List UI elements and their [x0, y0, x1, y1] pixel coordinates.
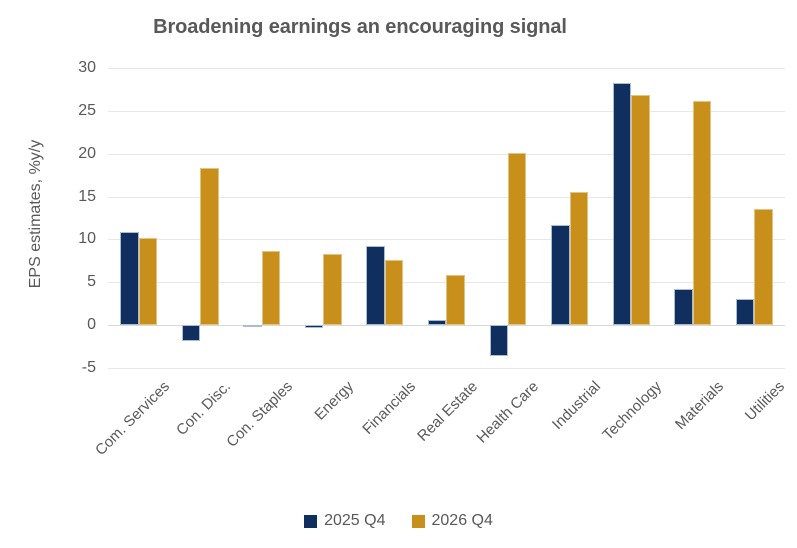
gridline--5 — [108, 368, 785, 369]
x-axis-label-text: Technology — [599, 378, 665, 444]
bar-group — [182, 68, 219, 368]
y-axis-title: EPS estimates, %y/y — [27, 99, 45, 329]
bar-group — [243, 68, 280, 368]
x-axis-label-text: Materials — [672, 378, 727, 433]
x-axis-label-financials: Financials — [359, 378, 419, 438]
x-axis-label-technology: Technology — [599, 378, 665, 444]
y-tick-label-0: 0 — [34, 316, 96, 334]
x-axis-label-text: Health Care — [473, 378, 542, 447]
legend-swatch-icon — [412, 515, 425, 528]
x-axis-label-energy: Energy — [312, 378, 358, 424]
y-tick-label-25: 25 — [34, 102, 96, 120]
y-tick-label-30: 30 — [34, 59, 96, 77]
x-axis-label-text: Com. Services — [92, 378, 173, 459]
bar[interactable] — [446, 275, 464, 326]
x-axis-label-materials: Materials — [672, 378, 727, 433]
bar-group — [366, 68, 403, 368]
bar-group — [428, 68, 465, 368]
y-tick-label-10: 10 — [34, 230, 96, 248]
bar[interactable] — [385, 260, 403, 325]
bar[interactable] — [182, 325, 200, 340]
bar[interactable] — [120, 232, 138, 325]
x-axis-label-text: Con. Staples — [223, 378, 296, 451]
y-tick-label-15: 15 — [34, 188, 96, 206]
bar-chart: Broadening earnings an encouraging signa… — [0, 0, 797, 548]
y-tick-label--5: -5 — [34, 359, 96, 377]
x-axis-label-con-disc: Con. Disc. — [173, 378, 234, 439]
bar[interactable] — [551, 225, 569, 325]
bar[interactable] — [613, 83, 631, 326]
x-axis-label-con-staples: Con. Staples — [223, 378, 296, 451]
bar[interactable] — [674, 289, 692, 325]
bar[interactable] — [323, 254, 341, 325]
x-axis-label-text: Financials — [359, 378, 419, 438]
x-axis-label-health-care: Health Care — [473, 378, 542, 447]
x-axis-label-text: Energy — [312, 378, 358, 424]
bar[interactable] — [570, 192, 588, 325]
bar-group — [490, 68, 527, 368]
bar[interactable] — [243, 325, 261, 327]
bar[interactable] — [366, 246, 384, 325]
x-axis-label-com-services: Com. Services — [92, 378, 173, 459]
bar[interactable] — [508, 153, 526, 325]
legend: 2025 Q42026 Q4 — [0, 512, 797, 530]
legend-label: 2026 Q4 — [432, 512, 493, 530]
x-axis-label-utilities: Utilities — [742, 378, 788, 424]
legend-label: 2025 Q4 — [324, 512, 385, 530]
bar[interactable] — [490, 325, 508, 356]
bar[interactable] — [631, 95, 649, 325]
y-tick-label-5: 5 — [34, 273, 96, 291]
bar-group — [674, 68, 711, 368]
bar-group — [736, 68, 773, 368]
bar[interactable] — [305, 325, 323, 328]
bar-group — [305, 68, 342, 368]
bar[interactable] — [139, 238, 157, 325]
x-axis-label-text: Industrial — [549, 378, 604, 433]
bar[interactable] — [693, 101, 711, 325]
legend-swatch-icon — [304, 515, 317, 528]
y-tick-label-20: 20 — [34, 145, 96, 163]
x-axis-label-text: Con. Disc. — [173, 378, 234, 439]
legend-item-2025-q4[interactable]: 2025 Q4 — [304, 512, 385, 530]
bar[interactable] — [754, 209, 772, 326]
bar[interactable] — [262, 251, 280, 325]
bar-group — [613, 68, 650, 368]
chart-title: Broadening earnings an encouraging signa… — [0, 16, 720, 39]
legend-item-2026-q4[interactable]: 2026 Q4 — [412, 512, 493, 530]
bar-group — [551, 68, 588, 368]
bar-group — [120, 68, 157, 368]
x-axis-label-industrial: Industrial — [549, 378, 604, 433]
bar[interactable] — [200, 168, 218, 325]
bar[interactable] — [736, 299, 754, 326]
plot-area — [108, 68, 785, 368]
x-axis-label-real-estate: Real Estate — [414, 378, 481, 445]
x-axis-label-text: Utilities — [742, 378, 788, 424]
bar[interactable] — [428, 320, 446, 325]
x-axis-label-text: Real Estate — [414, 378, 481, 445]
